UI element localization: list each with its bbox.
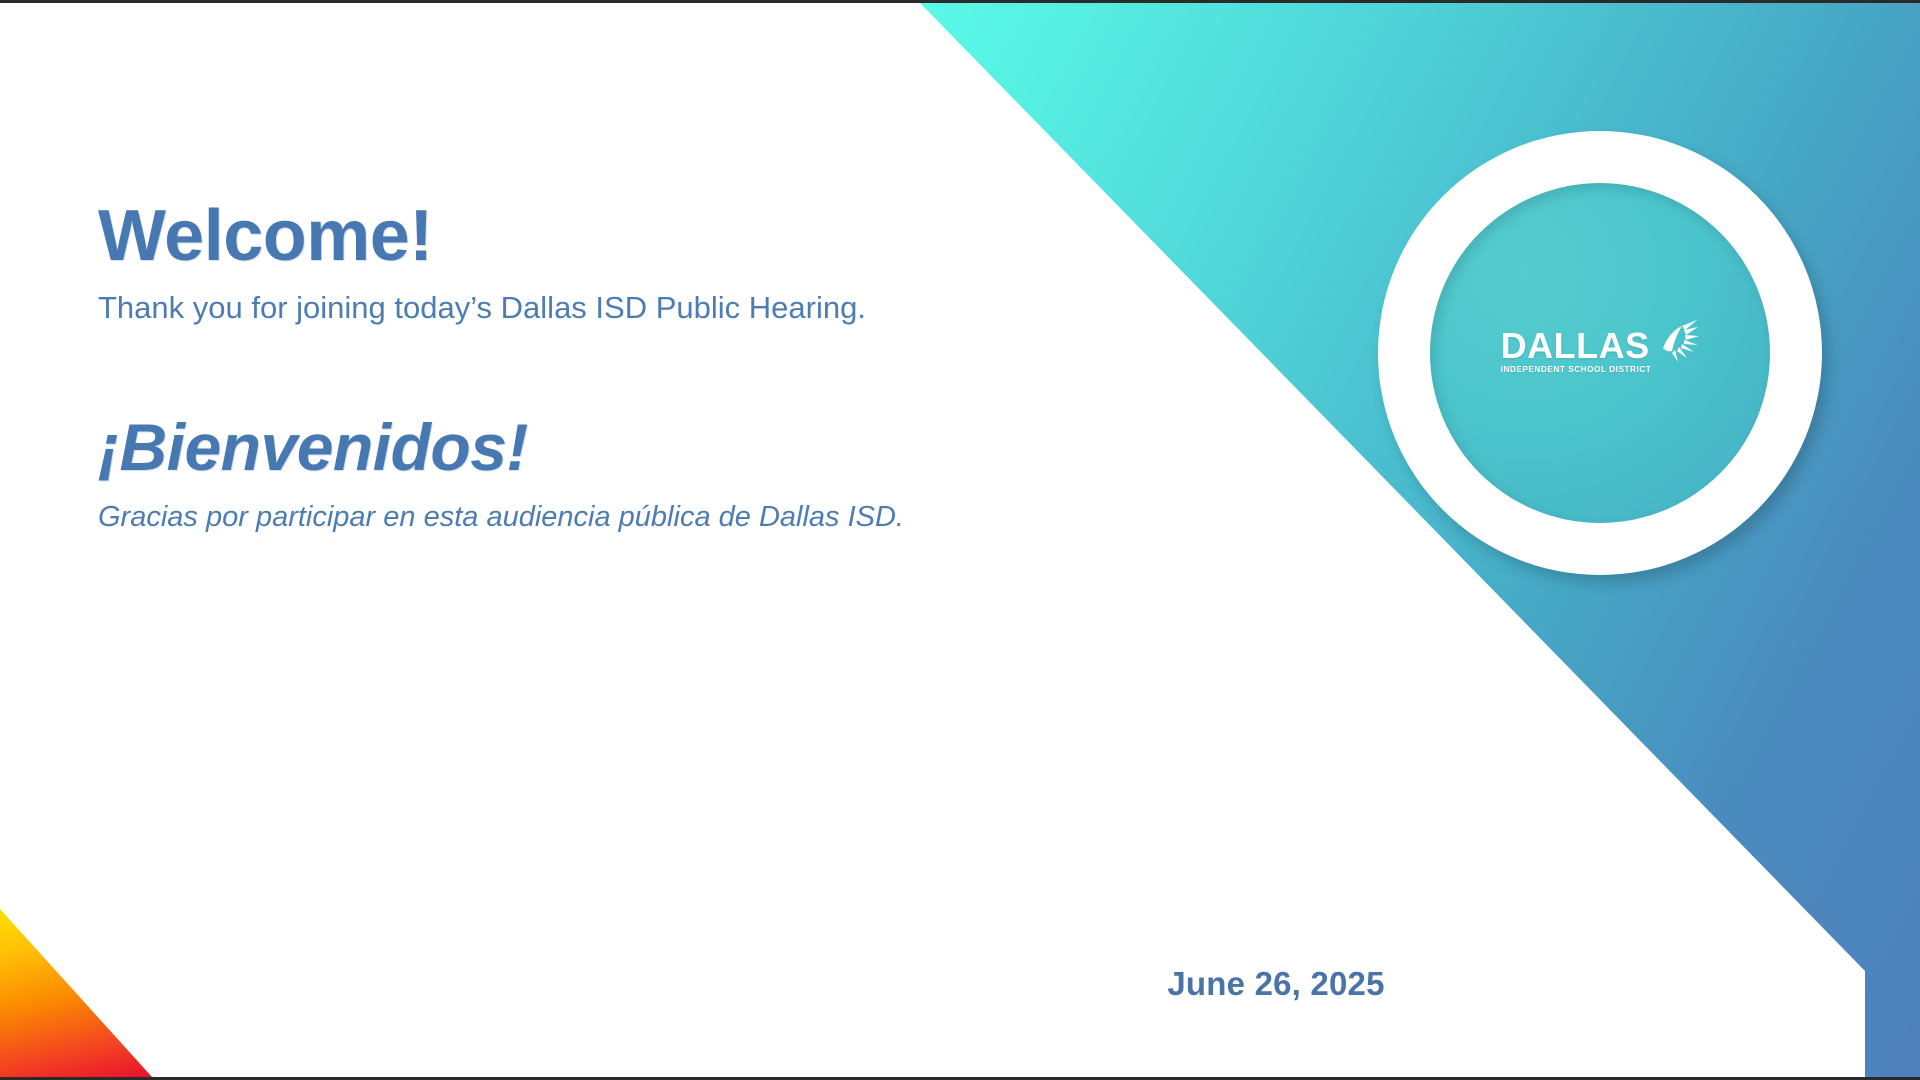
logo-wordmark: DALLAS [1501,328,1650,364]
logo-tagline: INDEPENDENT SCHOOL DISTRICT [1501,366,1652,374]
logo-inner-disc: DALLAS INDEPENDENT SCHOOL DISTRICT [1430,183,1770,523]
presentation-slide: DALLAS INDEPENDENT SCHOOL DISTRICT [0,0,1920,1080]
subtitle-spanish: Gracias por participar en esta audiencia… [98,499,1258,535]
corner-gradient-triangle-icon [0,909,152,1077]
comet-starburst-icon [1653,318,1699,369]
dallas-isd-logo-mark: DALLAS INDEPENDENT SCHOOL DISTRICT [1501,328,1700,374]
dallas-isd-logo-badge: DALLAS INDEPENDENT SCHOOL DISTRICT [1378,131,1822,575]
headline-english: Welcome! [98,199,1258,275]
subtitle-english: Thank you for joining today’s Dallas ISD… [98,289,1258,328]
headline-spanish: ¡Bienvenidos! [98,413,1258,482]
logo-wordblock: DALLAS INDEPENDENT SCHOOL DISTRICT [1501,328,1652,374]
slide-text-block: Welcome! Thank you for joining today’s D… [98,199,1258,535]
